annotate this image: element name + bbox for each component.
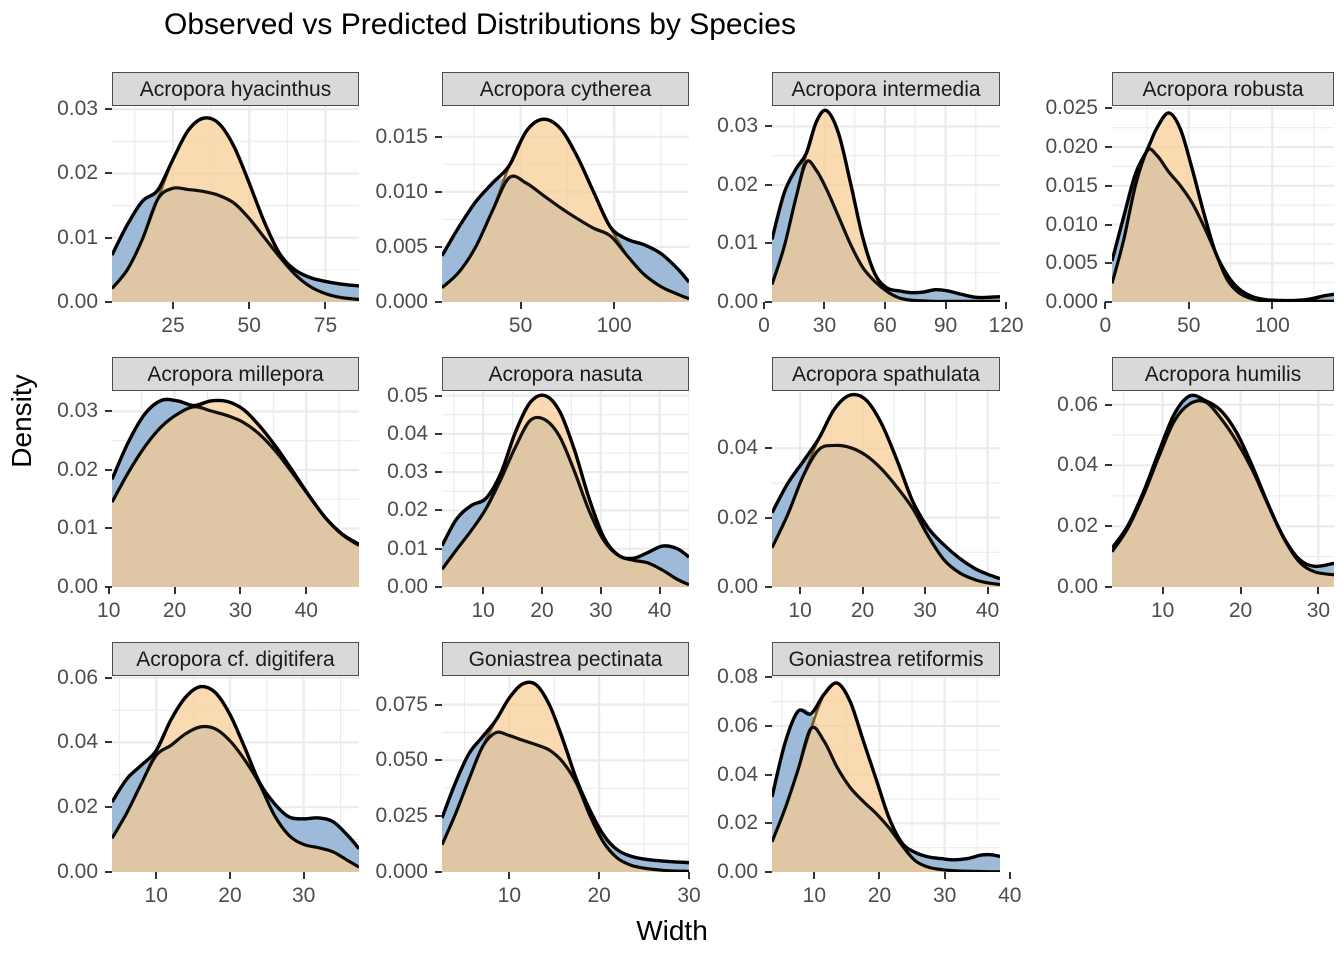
x-tick-label: 30 [933, 884, 956, 908]
x-tick-label: 100 [1255, 314, 1290, 338]
y-tick-mark [1105, 224, 1112, 226]
x-tick-mark [878, 872, 880, 879]
x-tick-label: 20 [868, 884, 891, 908]
plot-panel [1112, 106, 1334, 302]
facet-grid: Acropora hyacinthus0.000.010.020.0325507… [0, 58, 1344, 913]
x-axis-title: Width [0, 915, 1344, 947]
y-tick-label: 0.06 [717, 714, 758, 738]
facet-strip: Goniastrea retiformis [772, 642, 1000, 676]
y-tick-label: 0.000 [1045, 290, 1098, 314]
x-tick-label: 10 [1151, 599, 1174, 623]
y-tick-mark [1105, 146, 1112, 148]
facet-panel: Acropora humilis0.000.020.040.06102030 [0, 357, 1344, 627]
x-tick-mark [1240, 587, 1242, 594]
y-tick-mark [1105, 404, 1112, 406]
plot-panel [1112, 391, 1334, 587]
x-tick-label: 50 [1177, 314, 1200, 338]
plot-panel [772, 676, 1000, 872]
y-tick-label: 0.02 [1057, 514, 1098, 538]
y-tick-label: 0.010 [1045, 213, 1098, 237]
facet-strip-label: Goniastrea retiformis [789, 649, 984, 670]
x-tick-mark [1162, 587, 1164, 594]
y-tick-label: 0.025 [1045, 96, 1098, 120]
y-tick-mark [1105, 464, 1112, 466]
x-tick-label: 30 [1307, 599, 1330, 623]
y-tick-mark [1105, 262, 1112, 264]
facet-strip-label: Acropora humilis [1145, 364, 1301, 385]
y-tick-label: 0.00 [1057, 575, 1098, 599]
y-tick-label: 0.005 [1045, 251, 1098, 275]
x-tick-mark [813, 872, 815, 879]
y-tick-label: 0.08 [717, 665, 758, 689]
y-tick-label: 0.06 [1057, 393, 1098, 417]
x-tick-mark [1009, 872, 1011, 879]
x-tick-label: 20 [1229, 599, 1252, 623]
x-tick-label: 40 [998, 884, 1021, 908]
facet-panel: Acropora robusta0.0000.0050.0100.0150.02… [0, 72, 1344, 342]
x-tick-mark [1188, 302, 1190, 309]
y-tick-label: 0.02 [717, 811, 758, 835]
y-tick-mark [1105, 107, 1112, 109]
y-tick-label: 0.04 [717, 763, 758, 787]
y-tick-mark [1105, 586, 1112, 588]
y-tick-mark [765, 774, 772, 776]
y-tick-mark [765, 822, 772, 824]
x-tick-mark [944, 872, 946, 879]
y-tick-label: 0.04 [1057, 453, 1098, 477]
y-tick-mark [765, 871, 772, 873]
facet-strip: Acropora humilis [1112, 357, 1334, 391]
facet-panel: Goniastrea retiformis0.000.020.040.060.0… [0, 642, 1344, 912]
facet-strip: Acropora robusta [1112, 72, 1334, 106]
page-title: Observed vs Predicted Distributions by S… [0, 8, 960, 42]
y-tick-label: 0.015 [1045, 174, 1098, 198]
y-tick-mark [1105, 525, 1112, 527]
y-tick-mark [765, 676, 772, 678]
x-tick-label: 0 [1099, 314, 1111, 338]
y-tick-label: 0.020 [1045, 135, 1098, 159]
y-tick-mark [1105, 185, 1112, 187]
y-tick-label: 0.00 [717, 860, 758, 884]
y-tick-mark [765, 725, 772, 727]
facet-strip-label: Acropora robusta [1142, 79, 1303, 100]
x-tick-mark [1317, 587, 1319, 594]
x-tick-mark [1104, 302, 1106, 309]
density-plot-figure: Observed vs Predicted Distributions by S… [0, 0, 1344, 960]
x-tick-mark [1271, 302, 1273, 309]
x-tick-label: 10 [803, 884, 826, 908]
